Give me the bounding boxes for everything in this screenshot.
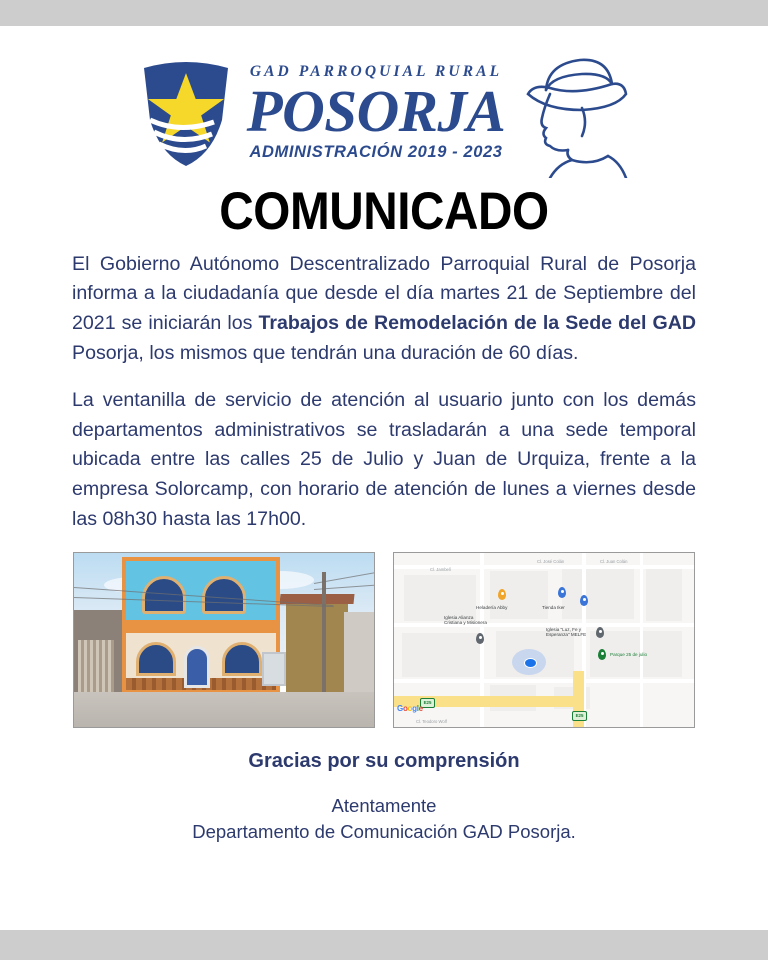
- page-title: COMUNICADO: [69, 184, 699, 240]
- image-row: Cl. Jambelí Cl. José Colán Cl. Juan Colá…: [34, 552, 734, 728]
- paragraph-1-part-2: Posorja, los mismos que tendrán una dura…: [72, 342, 578, 364]
- highway-shield-bottom: E25: [572, 711, 587, 721]
- announcement-body: El Gobierno Autónomo Descentralizado Par…: [34, 250, 734, 535]
- document-sheet: GAD PARROQUIAL RURAL POSORJA ADMINISTRAC…: [0, 26, 768, 930]
- signature-line-2: Departamento de Comunicación GAD Posorja…: [34, 819, 734, 846]
- signature-line-1: Atentamente: [34, 793, 734, 820]
- bottom-gray-band: [0, 930, 768, 960]
- signature-block: Atentamente Departamento de Comunicación…: [34, 793, 734, 847]
- shield-with-star-icon: [134, 54, 238, 170]
- paragraph-1: El Gobierno Autónomo Descentralizado Par…: [72, 250, 696, 369]
- google-attribution: Google: [397, 704, 423, 713]
- paragraph-1-bold: Trabajos de Remodelación de la Sede del …: [258, 312, 696, 334]
- logo-wordmark: GAD PARROQUIAL RURAL POSORJA ADMINISTRAC…: [242, 64, 510, 160]
- logo-line-2: POSORJA: [242, 82, 510, 141]
- paragraph-2: La ventanilla de servicio de atención al…: [72, 386, 696, 535]
- communique-page: GAD PARROQUIAL RURAL POSORJA ADMINISTRAC…: [0, 0, 768, 960]
- logo-line-3: ADMINISTRACIÓN 2019 - 2023: [242, 144, 510, 161]
- building-photo: [73, 552, 375, 728]
- top-gray-band: [0, 0, 768, 26]
- location-map[interactable]: Cl. Jambelí Cl. José Colán Cl. Juan Colá…: [393, 552, 695, 728]
- thanks-message: Gracias por su comprensión: [34, 750, 734, 773]
- man-with-hat-portrait-icon: [516, 46, 634, 178]
- logo-header: GAD PARROQUIAL RURAL POSORJA ADMINISTRAC…: [34, 26, 734, 176]
